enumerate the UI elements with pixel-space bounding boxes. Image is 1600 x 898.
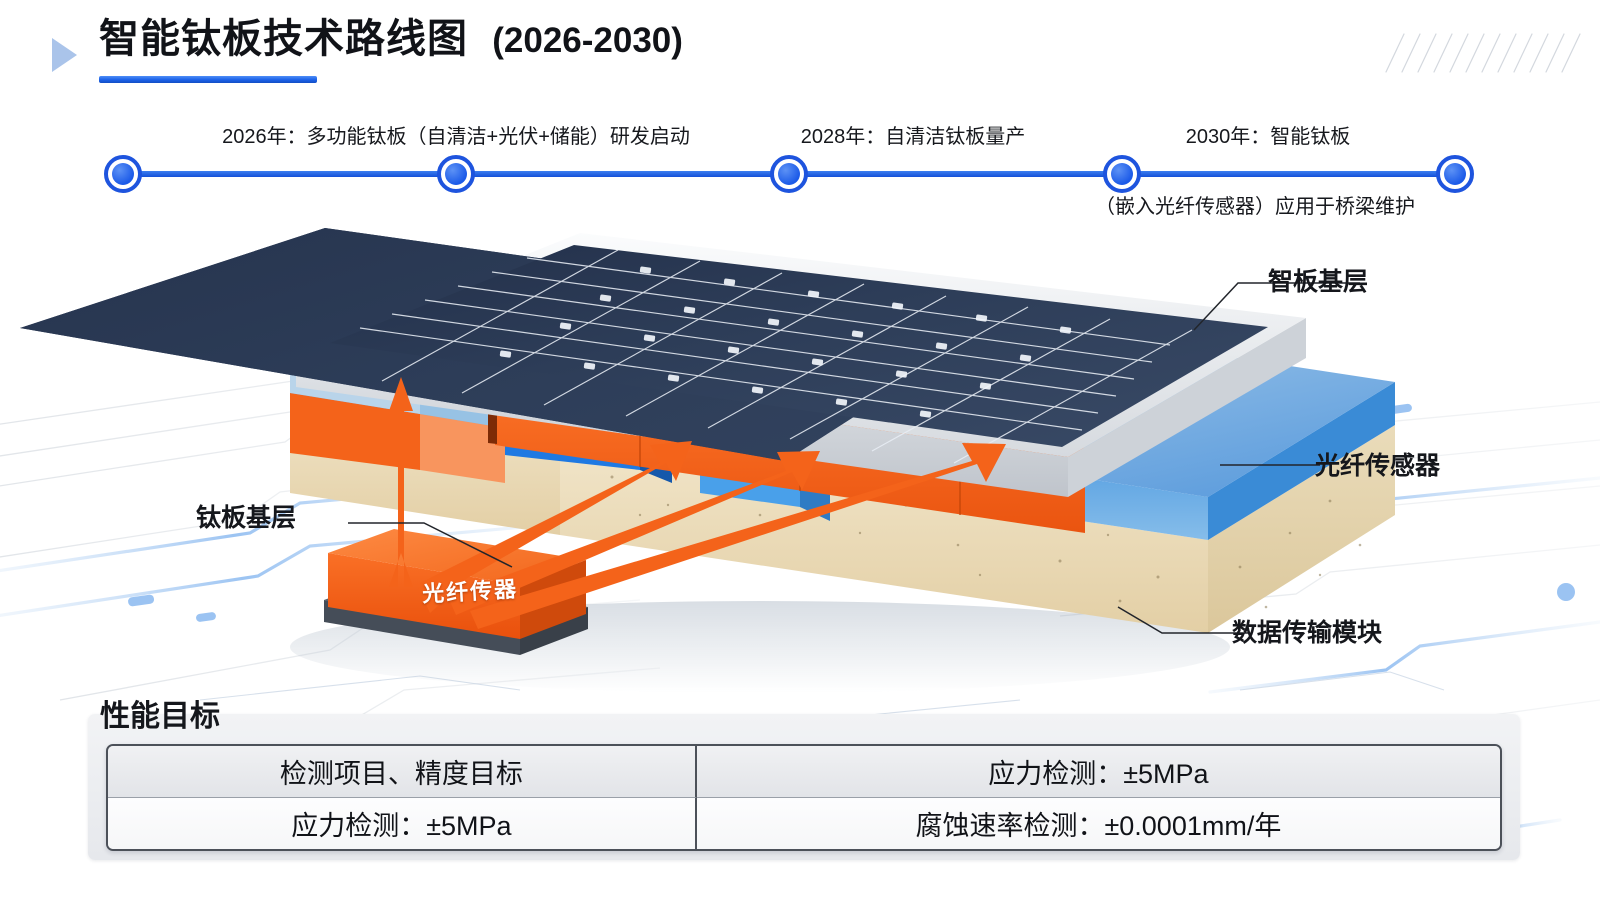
timeline-label-2030-detail: （嵌入光纤传感器）应用于桥梁维护 [1095,190,1415,219]
table-header-cell-1: 检测项目、精度目标 [108,746,697,798]
timeline-label-2030: 2030年：智能钛板 [1186,120,1351,149]
title-underline [99,76,317,83]
timeline-node-4[interactable] [1103,155,1141,193]
page-title: 智能钛板技术路线图 (2026-2030) [99,14,683,64]
page-header: 智能钛板技术路线图 (2026-2030) [52,14,683,83]
timeline-label-2026: 2026年：多功能钛板（自清洁+光伏+储能）研发启动 [222,120,690,149]
table-cell-stress-detection: 应力检测：±5MPa [108,798,697,849]
page-title-years: (2026-2030) [492,21,683,60]
titanium-plate-base-label: 钛板基层 [196,498,296,534]
data-transmission-module-label: 数据传输模块 [1232,613,1382,649]
table-row: 应力检测：±5MPa 腐蚀速率检测：±0.0001mm/年 [108,798,1500,849]
corner-hatch-decoration [1382,28,1582,80]
performance-goals-heading: 性能目标 [100,691,220,735]
table-header-row: 检测项目、精度目标 应力检测：±5MPa [108,746,1500,798]
play-triangle-icon [52,38,77,72]
page-title-main: 智能钛板技术路线图 [99,17,468,61]
sensor-box-label: 光纤传器 [421,571,519,608]
timeline-node-5[interactable] [1436,155,1474,193]
fiber-optic-sensor-label: 光纤传感器 [1315,446,1440,482]
table-cell-corrosion-rate: 腐蚀速率检测：±0.0001mm/年 [697,798,1500,849]
roadmap-timeline: 2026年：多功能钛板（自清洁+光伏+储能）研发启动 2028年：自清洁钛板量产… [0,110,1600,220]
timeline-node-2[interactable] [437,155,475,193]
title-wrap: 智能钛板技术路线图 (2026-2030) [99,14,683,83]
layered-panel-illustration: 智板基层 光纤传感器 数据传输模块 钛板基层 光纤传器 [0,215,1600,705]
timeline-node-1[interactable] [104,155,142,193]
timeline-label-2028: 2028年：自清洁钛板量产 [801,120,1026,149]
smart-panel-base-label: 智板基层 [1268,262,1368,298]
timeline-node-3[interactable] [770,155,808,193]
table-header-cell-2: 应力检测：±5MPa [697,746,1500,798]
performance-table: 检测项目、精度目标 应力检测：±5MPa 应力检测：±5MPa 腐蚀速率检测：±… [106,744,1502,851]
